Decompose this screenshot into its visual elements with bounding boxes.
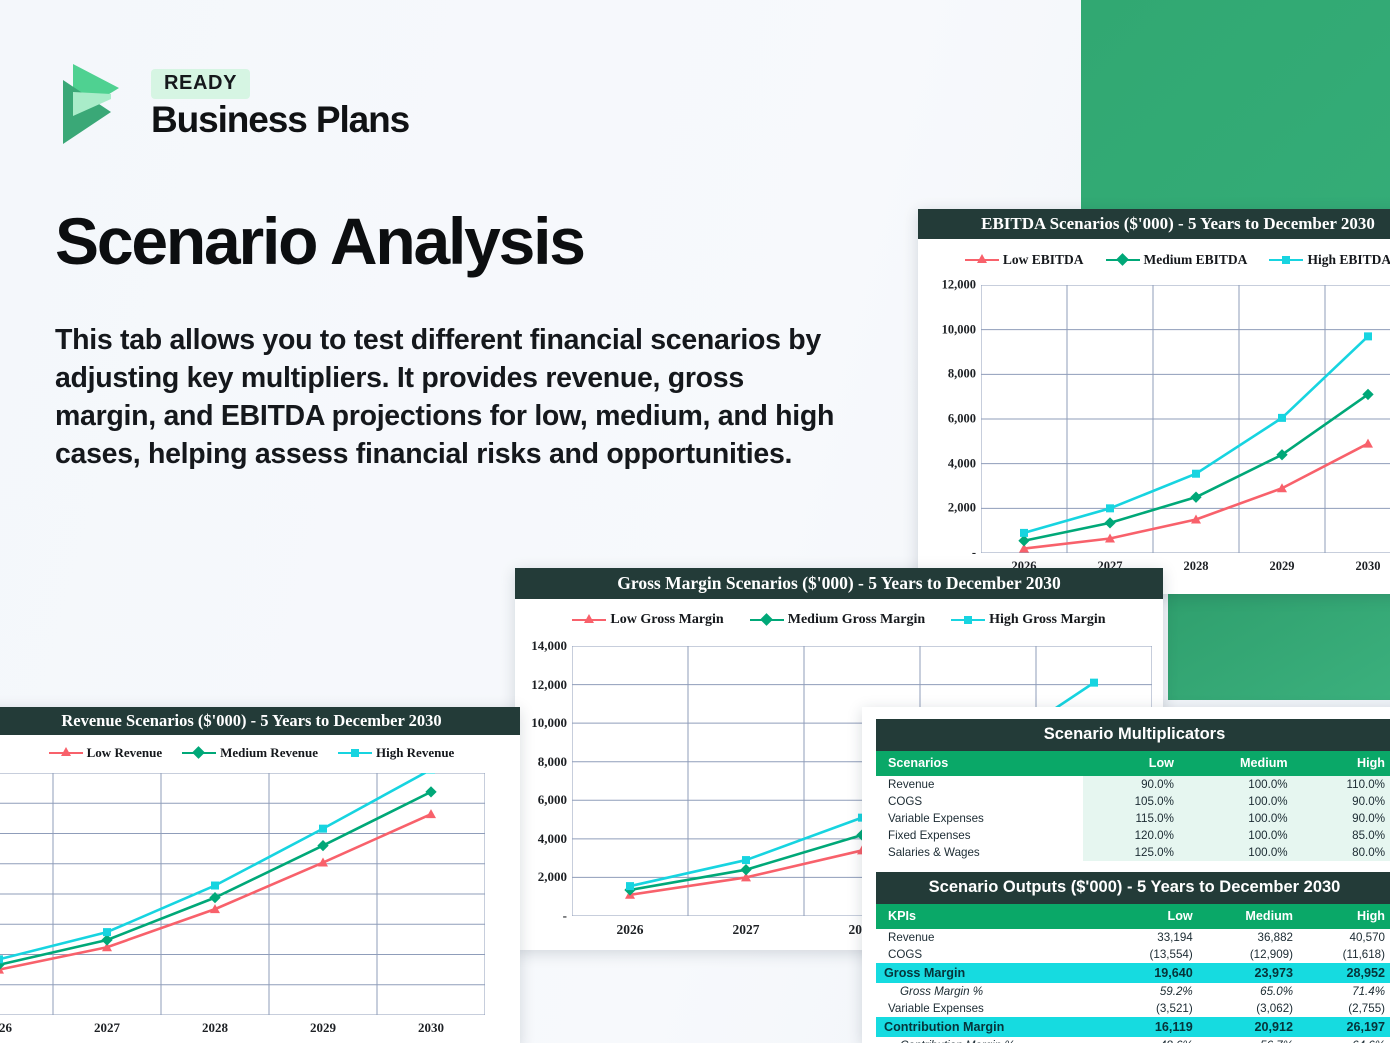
table-body: Revenue 90.0% 100.0% 110.0% COGS 105.0% … bbox=[876, 776, 1390, 861]
legend-label: High Revenue bbox=[376, 745, 454, 761]
cell-low: 105.0% bbox=[1083, 793, 1182, 810]
brand-logo: READY Business Plans bbox=[55, 58, 409, 150]
table-row: Salaries & Wages 125.0% 100.0% 80.0% bbox=[876, 844, 1390, 861]
column-header: Scenarios bbox=[876, 751, 1083, 776]
chart-legend-gross-margin: Low Gross Margin Medium Gross Margin Hig… bbox=[515, 605, 1163, 635]
x-axis-labels-revenue: 20262027202820292030 bbox=[0, 1020, 485, 1036]
scenario-tables-panel: Scenario Multiplicators ScenariosLowMedi… bbox=[862, 707, 1390, 1043]
x-tick-label: 2029 bbox=[1239, 559, 1325, 574]
cell-high: 90.0% bbox=[1296, 793, 1390, 810]
scenario-outputs-table: KPIsLowMediumHigh Revenue 33,194 36,882 … bbox=[876, 904, 1390, 1043]
chart-card-ebitda: EBITDA Scenarios ($'000) - 5 Years to De… bbox=[918, 209, 1390, 594]
legend-item-low-revenue: Low Revenue bbox=[49, 745, 162, 761]
row-label: Gross Margin bbox=[876, 963, 1107, 983]
table-row: Revenue 33,194 36,882 40,570 bbox=[876, 929, 1390, 946]
cell-low: 59.2% bbox=[1107, 983, 1200, 1000]
cell-high: 110.0% bbox=[1296, 776, 1390, 793]
table-body: Revenue 33,194 36,882 40,570 COGS (13,55… bbox=[876, 929, 1390, 1043]
y-tick-label: 12,000 bbox=[531, 677, 567, 693]
y-tick-label: 4,000 bbox=[948, 456, 976, 471]
chart-title-gross-margin: Gross Margin Scenarios ($'000) - 5 Years… bbox=[515, 568, 1163, 599]
x-tick-label: 2030 bbox=[377, 1020, 485, 1036]
legend-label: Medium Revenue bbox=[220, 745, 318, 761]
table-row: COGS (13,554) (12,909) (11,618) bbox=[876, 946, 1390, 963]
row-label: COGS bbox=[876, 793, 1083, 810]
y-axis-labels-ebitda: -2,0004,0006,0008,00010,00012,000 bbox=[918, 285, 976, 553]
cell-medium: 100.0% bbox=[1182, 793, 1296, 810]
chart-card-revenue: Revenue Scenarios ($'000) - 5 Years to D… bbox=[0, 707, 520, 1043]
table-row: Variable Expenses (3,521) (3,062) (2,755… bbox=[876, 1000, 1390, 1017]
legend-label: Low Revenue bbox=[87, 745, 162, 761]
column-header: High bbox=[1296, 751, 1390, 776]
cell-medium: (3,062) bbox=[1201, 1000, 1301, 1017]
chart-legend-revenue: Low Revenue Medium Revenue High Revenue bbox=[0, 739, 520, 767]
table-spacer bbox=[876, 861, 1390, 872]
y-tick-label: 10,000 bbox=[942, 322, 976, 337]
cell-high: 80.0% bbox=[1296, 844, 1390, 861]
chart-title-ebitda: EBITDA Scenarios ($'000) - 5 Years to De… bbox=[918, 209, 1390, 239]
y-tick-label: 8,000 bbox=[948, 367, 976, 382]
plot-area-ebitda bbox=[981, 285, 1390, 553]
cell-medium: 100.0% bbox=[1182, 827, 1296, 844]
decorative-green-block-top bbox=[1081, 0, 1390, 209]
legend-label: Low EBITDA bbox=[1003, 252, 1084, 268]
cell-low: 115.0% bbox=[1083, 810, 1182, 827]
column-header: Low bbox=[1107, 904, 1200, 929]
cell-high: 40,570 bbox=[1301, 929, 1390, 946]
decorative-green-block-middle bbox=[1168, 590, 1390, 700]
cell-high: 28,952 bbox=[1301, 963, 1390, 983]
row-label: Revenue bbox=[876, 776, 1083, 793]
y-tick-label: - bbox=[972, 546, 976, 561]
y-tick-label: 6,000 bbox=[538, 792, 567, 808]
row-label: COGS bbox=[876, 946, 1107, 963]
cell-high: 85.0% bbox=[1296, 827, 1390, 844]
table-row: Variable Expenses 115.0% 100.0% 90.0% bbox=[876, 810, 1390, 827]
scenario-multiplicators-table: ScenariosLowMediumHigh Revenue 90.0% 100… bbox=[876, 751, 1390, 861]
y-tick-label: 2,000 bbox=[538, 869, 567, 885]
row-label: Fixed Expenses bbox=[876, 827, 1083, 844]
ready-badge: READY bbox=[151, 69, 250, 99]
chart-legend-ebitda: Low EBITDA Medium EBITDA High EBITDA bbox=[918, 245, 1390, 275]
y-tick-label: 10,000 bbox=[531, 715, 567, 731]
row-label: Variable Expenses bbox=[876, 1000, 1107, 1017]
legend-label: Medium Gross Margin bbox=[788, 612, 925, 628]
cell-medium: 100.0% bbox=[1182, 810, 1296, 827]
cell-low: 16,119 bbox=[1107, 1017, 1200, 1037]
row-label: Salaries & Wages bbox=[876, 844, 1083, 861]
column-header: KPIs bbox=[876, 904, 1107, 929]
table-row: Gross Margin % 59.2% 65.0% 71.4% bbox=[876, 983, 1390, 1000]
y-tick-label: 6,000 bbox=[948, 412, 976, 427]
legend-item-high-revenue: High Revenue bbox=[338, 745, 454, 761]
cell-medium: (12,909) bbox=[1201, 946, 1301, 963]
cell-high: 90.0% bbox=[1296, 810, 1390, 827]
legend-item-low-ebitda: Low EBITDA bbox=[965, 252, 1084, 268]
play-triangle-logo-icon bbox=[55, 58, 133, 150]
outputs-title: Scenario Outputs ($'000) - 5 Years to De… bbox=[876, 872, 1390, 904]
x-tick-label: 2026 bbox=[572, 922, 688, 938]
plot-area-revenue bbox=[0, 773, 485, 1015]
row-label: Revenue bbox=[876, 929, 1107, 946]
y-tick-label: 12,000 bbox=[942, 278, 976, 293]
x-tick-label: 2027 bbox=[688, 922, 804, 938]
x-tick-label: 2027 bbox=[53, 1020, 161, 1036]
brand-name: Business Plans bbox=[151, 101, 409, 140]
cell-high: (11,618) bbox=[1301, 946, 1390, 963]
row-label: Variable Expenses bbox=[876, 810, 1083, 827]
cell-medium: 36,882 bbox=[1201, 929, 1301, 946]
x-tick-label: 2028 bbox=[1153, 559, 1239, 574]
cell-low: 33,194 bbox=[1107, 929, 1200, 946]
legend-label: High EBITDA bbox=[1307, 252, 1390, 268]
cell-low: (3,521) bbox=[1107, 1000, 1200, 1017]
row-label: Gross Margin % bbox=[876, 983, 1107, 1000]
table-row: Gross Margin 19,640 23,973 28,952 bbox=[876, 963, 1390, 983]
cell-low: 120.0% bbox=[1083, 827, 1182, 844]
x-tick-label: 2028 bbox=[161, 1020, 269, 1036]
legend-item-medium-revenue: Medium Revenue bbox=[182, 745, 318, 761]
legend-label: Low Gross Margin bbox=[610, 612, 723, 628]
row-label: Contribution Margin bbox=[876, 1017, 1107, 1037]
column-header: Low bbox=[1083, 751, 1182, 776]
y-tick-label: 14,000 bbox=[531, 638, 567, 654]
column-header: Medium bbox=[1182, 751, 1296, 776]
cell-low: 90.0% bbox=[1083, 776, 1182, 793]
cell-high: 71.4% bbox=[1301, 983, 1390, 1000]
page-description: This tab allows you to test different fi… bbox=[55, 322, 850, 474]
legend-item-medium-ebitda: Medium EBITDA bbox=[1106, 252, 1248, 268]
table-row: Contribution Margin 16,119 20,912 26,197 bbox=[876, 1017, 1390, 1037]
legend-label: Medium EBITDA bbox=[1144, 252, 1248, 268]
cell-low: (13,554) bbox=[1107, 946, 1200, 963]
table-row: Contribution Margin % 48.6% 56.7% 64.6% bbox=[876, 1037, 1390, 1043]
cell-low: 48.6% bbox=[1107, 1037, 1200, 1043]
cell-low: 19,640 bbox=[1107, 963, 1200, 983]
y-tick-label: 2,000 bbox=[948, 501, 976, 516]
cell-low: 125.0% bbox=[1083, 844, 1182, 861]
table-row: COGS 105.0% 100.0% 90.0% bbox=[876, 793, 1390, 810]
cell-medium: 100.0% bbox=[1182, 844, 1296, 861]
cell-high: 26,197 bbox=[1301, 1017, 1390, 1037]
x-tick-label: 2030 bbox=[1325, 559, 1390, 574]
y-tick-label: - bbox=[563, 908, 567, 924]
legend-label: High Gross Margin bbox=[989, 612, 1105, 628]
row-label: Contribution Margin % bbox=[876, 1037, 1107, 1043]
x-tick-label: 2029 bbox=[269, 1020, 377, 1036]
cell-medium: 56.7% bbox=[1201, 1037, 1301, 1043]
legend-item-low-gross-margin: Low Gross Margin bbox=[572, 612, 723, 628]
y-tick-label: 8,000 bbox=[538, 754, 567, 770]
legend-item-high-ebitda: High EBITDA bbox=[1269, 252, 1390, 268]
cell-high: (2,755) bbox=[1301, 1000, 1390, 1017]
table-header-row: KPIsLowMediumHigh bbox=[876, 904, 1390, 929]
cell-medium: 100.0% bbox=[1182, 776, 1296, 793]
page-title: Scenario Analysis bbox=[55, 208, 584, 276]
column-header: High bbox=[1301, 904, 1390, 929]
legend-item-high-gross-margin: High Gross Margin bbox=[951, 612, 1105, 628]
y-tick-label: 4,000 bbox=[538, 831, 567, 847]
table-row: Revenue 90.0% 100.0% 110.0% bbox=[876, 776, 1390, 793]
slide-canvas: READY Business Plans Scenario Analysis T… bbox=[0, 0, 1390, 1043]
cell-medium: 23,973 bbox=[1201, 963, 1301, 983]
chart-title-revenue: Revenue Scenarios ($'000) - 5 Years to D… bbox=[0, 707, 520, 735]
cell-medium: 20,912 bbox=[1201, 1017, 1301, 1037]
cell-high: 64.6% bbox=[1301, 1037, 1390, 1043]
column-header: Medium bbox=[1201, 904, 1301, 929]
legend-item-medium-gross-margin: Medium Gross Margin bbox=[750, 612, 925, 628]
multiplicators-title: Scenario Multiplicators bbox=[876, 719, 1390, 751]
y-axis-labels-gross-margin: -2,0004,0006,0008,00010,00012,00014,000 bbox=[515, 646, 567, 916]
table-row: Fixed Expenses 120.0% 100.0% 85.0% bbox=[876, 827, 1390, 844]
cell-medium: 65.0% bbox=[1201, 983, 1301, 1000]
table-header-row: ScenariosLowMediumHigh bbox=[876, 751, 1390, 776]
x-tick-label: 2026 bbox=[0, 1020, 53, 1036]
